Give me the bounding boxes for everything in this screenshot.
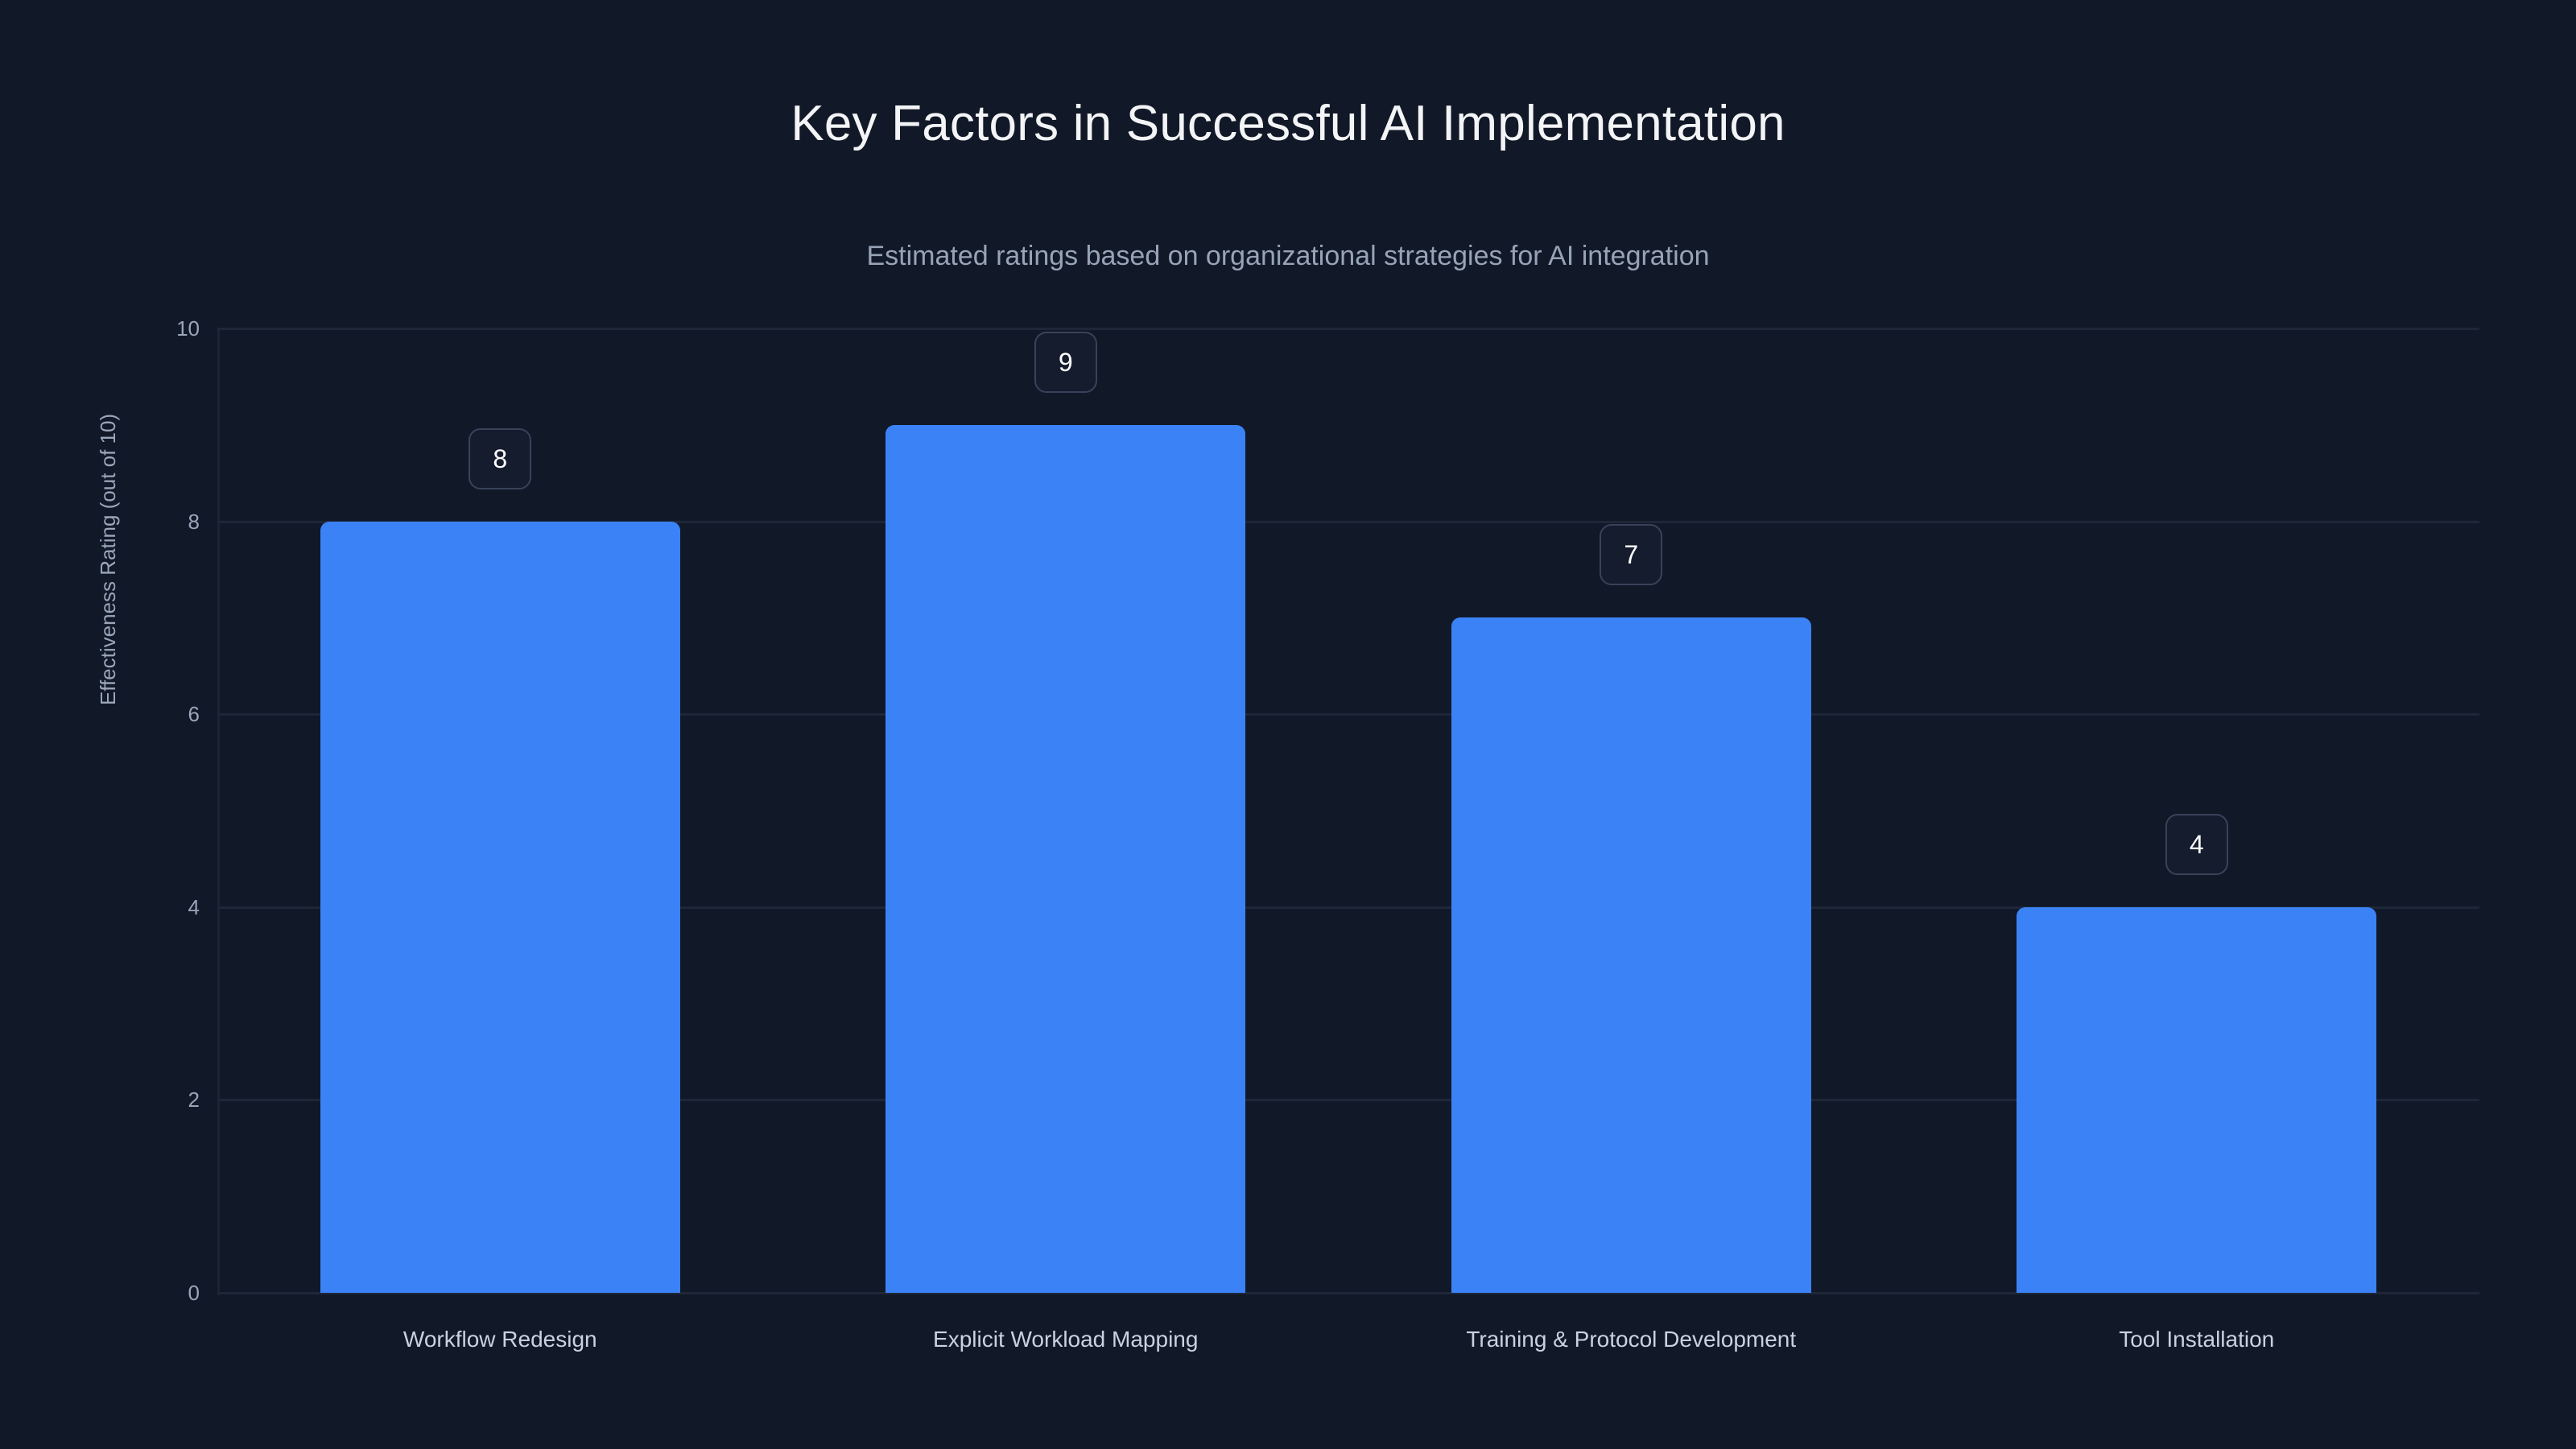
x-axis-tick-label: Workflow Redesign <box>217 1328 783 1351</box>
y-axis-tick-label: 4 <box>145 897 200 918</box>
y-axis-tick-label: 0 <box>145 1282 200 1303</box>
bar-value-badge: 9 <box>1034 332 1097 393</box>
chart-canvas: Key Factors in Successful AI Implementat… <box>0 0 2576 1449</box>
x-axis-tick-label: Training & Protocol Development <box>1348 1328 1914 1351</box>
bar[interactable] <box>1451 617 1811 1293</box>
gridline <box>217 328 2479 330</box>
y-axis-tick-label: 8 <box>145 511 200 532</box>
y-axis-tick-label: 6 <box>145 704 200 724</box>
y-axis-title: Effectiveness Rating (out of 10) <box>90 76 126 1042</box>
chart-subtitle: Estimated ratings based on organizationa… <box>0 242 2576 271</box>
y-axis-line <box>217 328 220 1295</box>
chart-title: Key Factors in Successful AI Implementat… <box>0 97 2576 151</box>
y-axis-tick-label: 10 <box>145 318 200 339</box>
bar-value-badge: 4 <box>2165 814 2228 875</box>
bar[interactable] <box>885 425 1245 1293</box>
x-axis-tick-label: Tool Installation <box>1914 1328 2480 1351</box>
bar[interactable] <box>2017 907 2376 1293</box>
bar[interactable] <box>320 522 680 1293</box>
bar-value-badge: 8 <box>469 428 531 489</box>
x-axis-tick-label: Explicit Workload Mapping <box>783 1328 1349 1351</box>
bar-value-badge: 7 <box>1600 524 1662 585</box>
y-axis-tick-label: 2 <box>145 1089 200 1110</box>
